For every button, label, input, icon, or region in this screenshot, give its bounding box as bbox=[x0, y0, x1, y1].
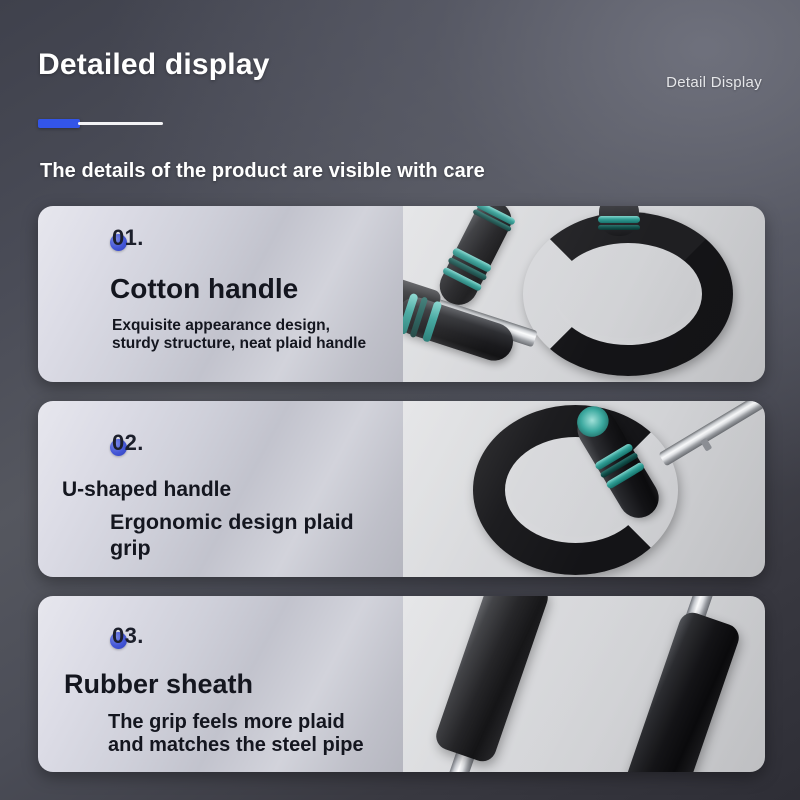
feature-card-text-panel: 01. Cotton handle Exquisite appearance d… bbox=[38, 206, 403, 382]
feature-card-description: The grip feels more plaid and matches th… bbox=[108, 711, 387, 758]
feature-card-description: Exquisite appearance design, sturdy stru… bbox=[112, 317, 387, 354]
accent-divider bbox=[38, 119, 168, 129]
feature-card[interactable]: 02. U-shaped handle Ergonomic design pla… bbox=[38, 401, 765, 577]
bar-pin-icon bbox=[700, 438, 712, 452]
chrome-steel-bar bbox=[658, 401, 765, 466]
page-title: Detailed display bbox=[38, 48, 270, 82]
feature-card-number: 03. bbox=[112, 623, 144, 649]
feature-card-image bbox=[403, 596, 765, 772]
rubber-grip-right bbox=[623, 609, 742, 772]
feature-card-text-panel: 03. Rubber sheath The grip feels more pl… bbox=[38, 596, 403, 772]
feature-card[interactable]: 03. Rubber sheath The grip feels more pl… bbox=[38, 596, 765, 772]
feature-card-text-panel: 02. U-shaped handle Ergonomic design pla… bbox=[38, 401, 403, 577]
feature-card-title: Cotton handle bbox=[110, 274, 387, 304]
feature-card[interactable]: 01. Cotton handle Exquisite appearance d… bbox=[38, 206, 765, 382]
product-photo-u-curve bbox=[403, 401, 765, 577]
feature-card-description: Ergonomic design plaid grip bbox=[110, 510, 387, 561]
dark-teal-ring-icon bbox=[598, 225, 640, 230]
header-eyebrow-label: Detail Display bbox=[666, 74, 762, 91]
feature-card-title: U-shaped handle bbox=[62, 479, 387, 501]
feature-card-number-group: 03. bbox=[54, 612, 387, 642]
foam-grip-upper bbox=[433, 206, 518, 311]
feature-card-number: 02. bbox=[112, 430, 144, 456]
feature-card-number-group: 02. bbox=[54, 417, 387, 447]
teal-ring-icon bbox=[598, 216, 640, 223]
feature-card-image bbox=[403, 401, 765, 577]
foam-u-curve-shape bbox=[523, 212, 733, 376]
rubber-grip-left bbox=[432, 596, 551, 765]
page-subtitle: The details of the product are visible w… bbox=[40, 160, 485, 183]
product-photo-u-handle-with-bar bbox=[403, 206, 765, 382]
accent-bar-white bbox=[78, 122, 163, 125]
feature-card-number-group: 01. bbox=[54, 222, 387, 252]
chrome-bar-body bbox=[658, 401, 765, 466]
feature-card-number: 01. bbox=[112, 225, 144, 251]
accent-bar-blue bbox=[38, 119, 80, 128]
product-photo-rubber-sheaths bbox=[403, 596, 765, 772]
feature-card-image bbox=[403, 206, 765, 382]
feature-card-title: Rubber sheath bbox=[64, 670, 387, 699]
